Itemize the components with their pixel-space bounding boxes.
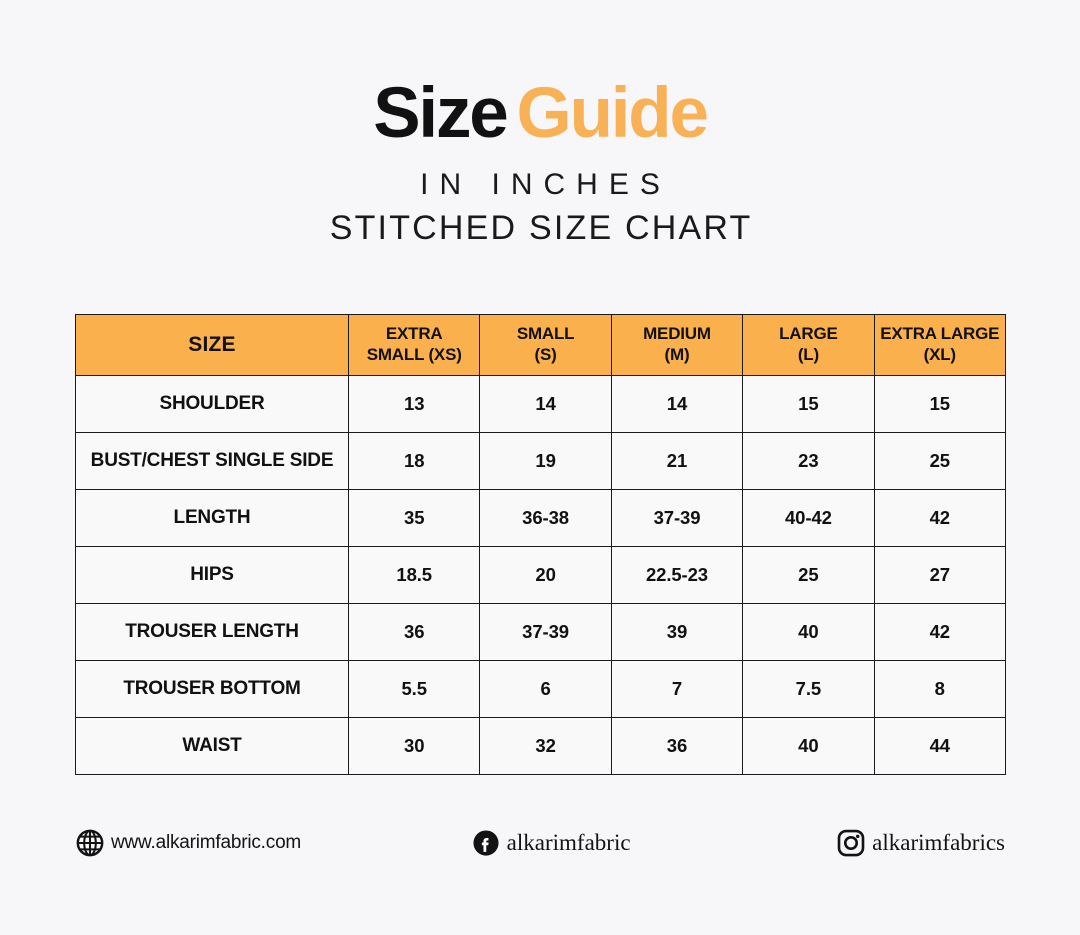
facebook-icon xyxy=(471,828,501,858)
table-row: LENGTH 35 36-38 37-39 40-42 42 xyxy=(76,490,1006,547)
column-header-size-line1: SIZE xyxy=(188,333,235,356)
row-label-bust-chest-single-side: BUST/CHEST SINGLE SIDE xyxy=(76,433,349,490)
column-header-xs-line2: SMALL (XS) xyxy=(353,345,475,366)
title-block: SizeGuide IN INCHES STITCHED SIZE CHART xyxy=(0,78,1080,248)
footer: www.alkarimfabric.com alkarimfabric alka… xyxy=(75,815,1005,871)
cell-trouser-bottom-xl: 8 xyxy=(874,661,1005,718)
size-chart-container: SIZE EXTRA SMALL (XS) SMALL (S) MEDIUM (… xyxy=(75,314,1005,775)
row-label-shoulder: SHOULDER xyxy=(76,376,349,433)
column-header-xl-line1: EXTRA LARGE xyxy=(880,324,999,343)
cell-trouser-bottom-s: 6 xyxy=(480,661,611,718)
cell-trouser-length-s: 37-39 xyxy=(480,604,611,661)
cell-waist-s: 32 xyxy=(480,718,611,775)
row-label-hips: HIPS xyxy=(76,547,349,604)
footer-website-text: www.alkarimfabric.com xyxy=(111,832,301,854)
cell-length-l: 40-42 xyxy=(743,490,874,547)
cell-trouser-bottom-l: 7.5 xyxy=(743,661,874,718)
globe-icon xyxy=(75,828,105,858)
column-header-xl-line2: (XL) xyxy=(879,345,1001,366)
row-label-trouser-bottom: TROUSER BOTTOM xyxy=(76,661,349,718)
cell-waist-m: 36 xyxy=(611,718,742,775)
cell-shoulder-xs: 13 xyxy=(349,376,480,433)
cell-shoulder-xl: 15 xyxy=(874,376,1005,433)
column-header-l-line2: (L) xyxy=(747,345,869,366)
column-header-m-line2: (M) xyxy=(616,345,738,366)
cell-length-s: 36-38 xyxy=(480,490,611,547)
row-label-length: LENGTH xyxy=(76,490,349,547)
table-body: SHOULDER 13 14 14 15 15 BUST/CHEST SINGL… xyxy=(76,376,1006,775)
cell-shoulder-m: 14 xyxy=(611,376,742,433)
column-header-s-line1: SMALL xyxy=(517,324,575,343)
table-row: TROUSER BOTTOM 5.5 6 7 7.5 8 xyxy=(76,661,1006,718)
page-title: SizeGuide xyxy=(0,78,1080,150)
instagram-icon xyxy=(836,828,866,858)
footer-facebook-text: alkarimfabric xyxy=(507,830,631,856)
cell-trouser-length-xs: 36 xyxy=(349,604,480,661)
cell-length-xl: 42 xyxy=(874,490,1005,547)
column-header-l-line1: LARGE xyxy=(779,324,838,343)
cell-bust-xs: 18 xyxy=(349,433,480,490)
column-header-s: SMALL (S) xyxy=(480,315,611,376)
subtitle-stitched-size-chart: STITCHED SIZE CHART xyxy=(0,208,1080,248)
cell-bust-xl: 25 xyxy=(874,433,1005,490)
cell-trouser-length-xl: 42 xyxy=(874,604,1005,661)
cell-waist-l: 40 xyxy=(743,718,874,775)
cell-hips-xl: 27 xyxy=(874,547,1005,604)
cell-trouser-length-l: 40 xyxy=(743,604,874,661)
cell-bust-s: 19 xyxy=(480,433,611,490)
cell-trouser-bottom-m: 7 xyxy=(611,661,742,718)
cell-hips-m: 22.5-23 xyxy=(611,547,742,604)
column-header-s-line2: (S) xyxy=(484,345,606,366)
cell-bust-l: 23 xyxy=(743,433,874,490)
cell-length-xs: 35 xyxy=(349,490,480,547)
column-header-xs: EXTRA SMALL (XS) xyxy=(349,315,480,376)
cell-shoulder-s: 14 xyxy=(480,376,611,433)
cell-shoulder-l: 15 xyxy=(743,376,874,433)
title-word-guide: Guide xyxy=(517,74,707,153)
cell-bust-m: 21 xyxy=(611,433,742,490)
cell-length-m: 37-39 xyxy=(611,490,742,547)
footer-instagram[interactable]: alkarimfabrics xyxy=(836,828,1005,858)
column-header-xs-line1: EXTRA xyxy=(386,324,443,343)
row-label-trouser-length: TROUSER LENGTH xyxy=(76,604,349,661)
cell-hips-xs: 18.5 xyxy=(349,547,480,604)
column-header-xl: EXTRA LARGE (XL) xyxy=(874,315,1005,376)
size-guide-page: SizeGuide IN INCHES STITCHED SIZE CHART … xyxy=(0,0,1080,935)
cell-hips-l: 25 xyxy=(743,547,874,604)
subtitle-in-inches: IN INCHES xyxy=(0,167,1080,202)
footer-website[interactable]: www.alkarimfabric.com xyxy=(75,828,301,858)
table-row: TROUSER LENGTH 36 37-39 39 40 42 xyxy=(76,604,1006,661)
cell-trouser-bottom-xs: 5.5 xyxy=(349,661,480,718)
table-head: SIZE EXTRA SMALL (XS) SMALL (S) MEDIUM (… xyxy=(76,315,1006,376)
column-header-l: LARGE (L) xyxy=(743,315,874,376)
column-header-m-line1: MEDIUM xyxy=(643,324,711,343)
table-row: WAIST 30 32 36 40 44 xyxy=(76,718,1006,775)
column-header-size: SIZE xyxy=(76,315,349,376)
row-label-waist: WAIST xyxy=(76,718,349,775)
cell-hips-s: 20 xyxy=(480,547,611,604)
cell-waist-xs: 30 xyxy=(349,718,480,775)
table-row: HIPS 18.5 20 22.5-23 25 27 xyxy=(76,547,1006,604)
cell-waist-xl: 44 xyxy=(874,718,1005,775)
footer-instagram-text: alkarimfabrics xyxy=(872,830,1005,856)
table-row: BUST/CHEST SINGLE SIDE 18 19 21 23 25 xyxy=(76,433,1006,490)
title-word-size: Size xyxy=(373,74,506,153)
cell-trouser-length-m: 39 xyxy=(611,604,742,661)
table-header-row: SIZE EXTRA SMALL (XS) SMALL (S) MEDIUM (… xyxy=(76,315,1006,376)
column-header-m: MEDIUM (M) xyxy=(611,315,742,376)
footer-facebook[interactable]: alkarimfabric xyxy=(301,828,836,858)
table-row: SHOULDER 13 14 14 15 15 xyxy=(76,376,1006,433)
size-chart-table: SIZE EXTRA SMALL (XS) SMALL (S) MEDIUM (… xyxy=(75,314,1006,775)
